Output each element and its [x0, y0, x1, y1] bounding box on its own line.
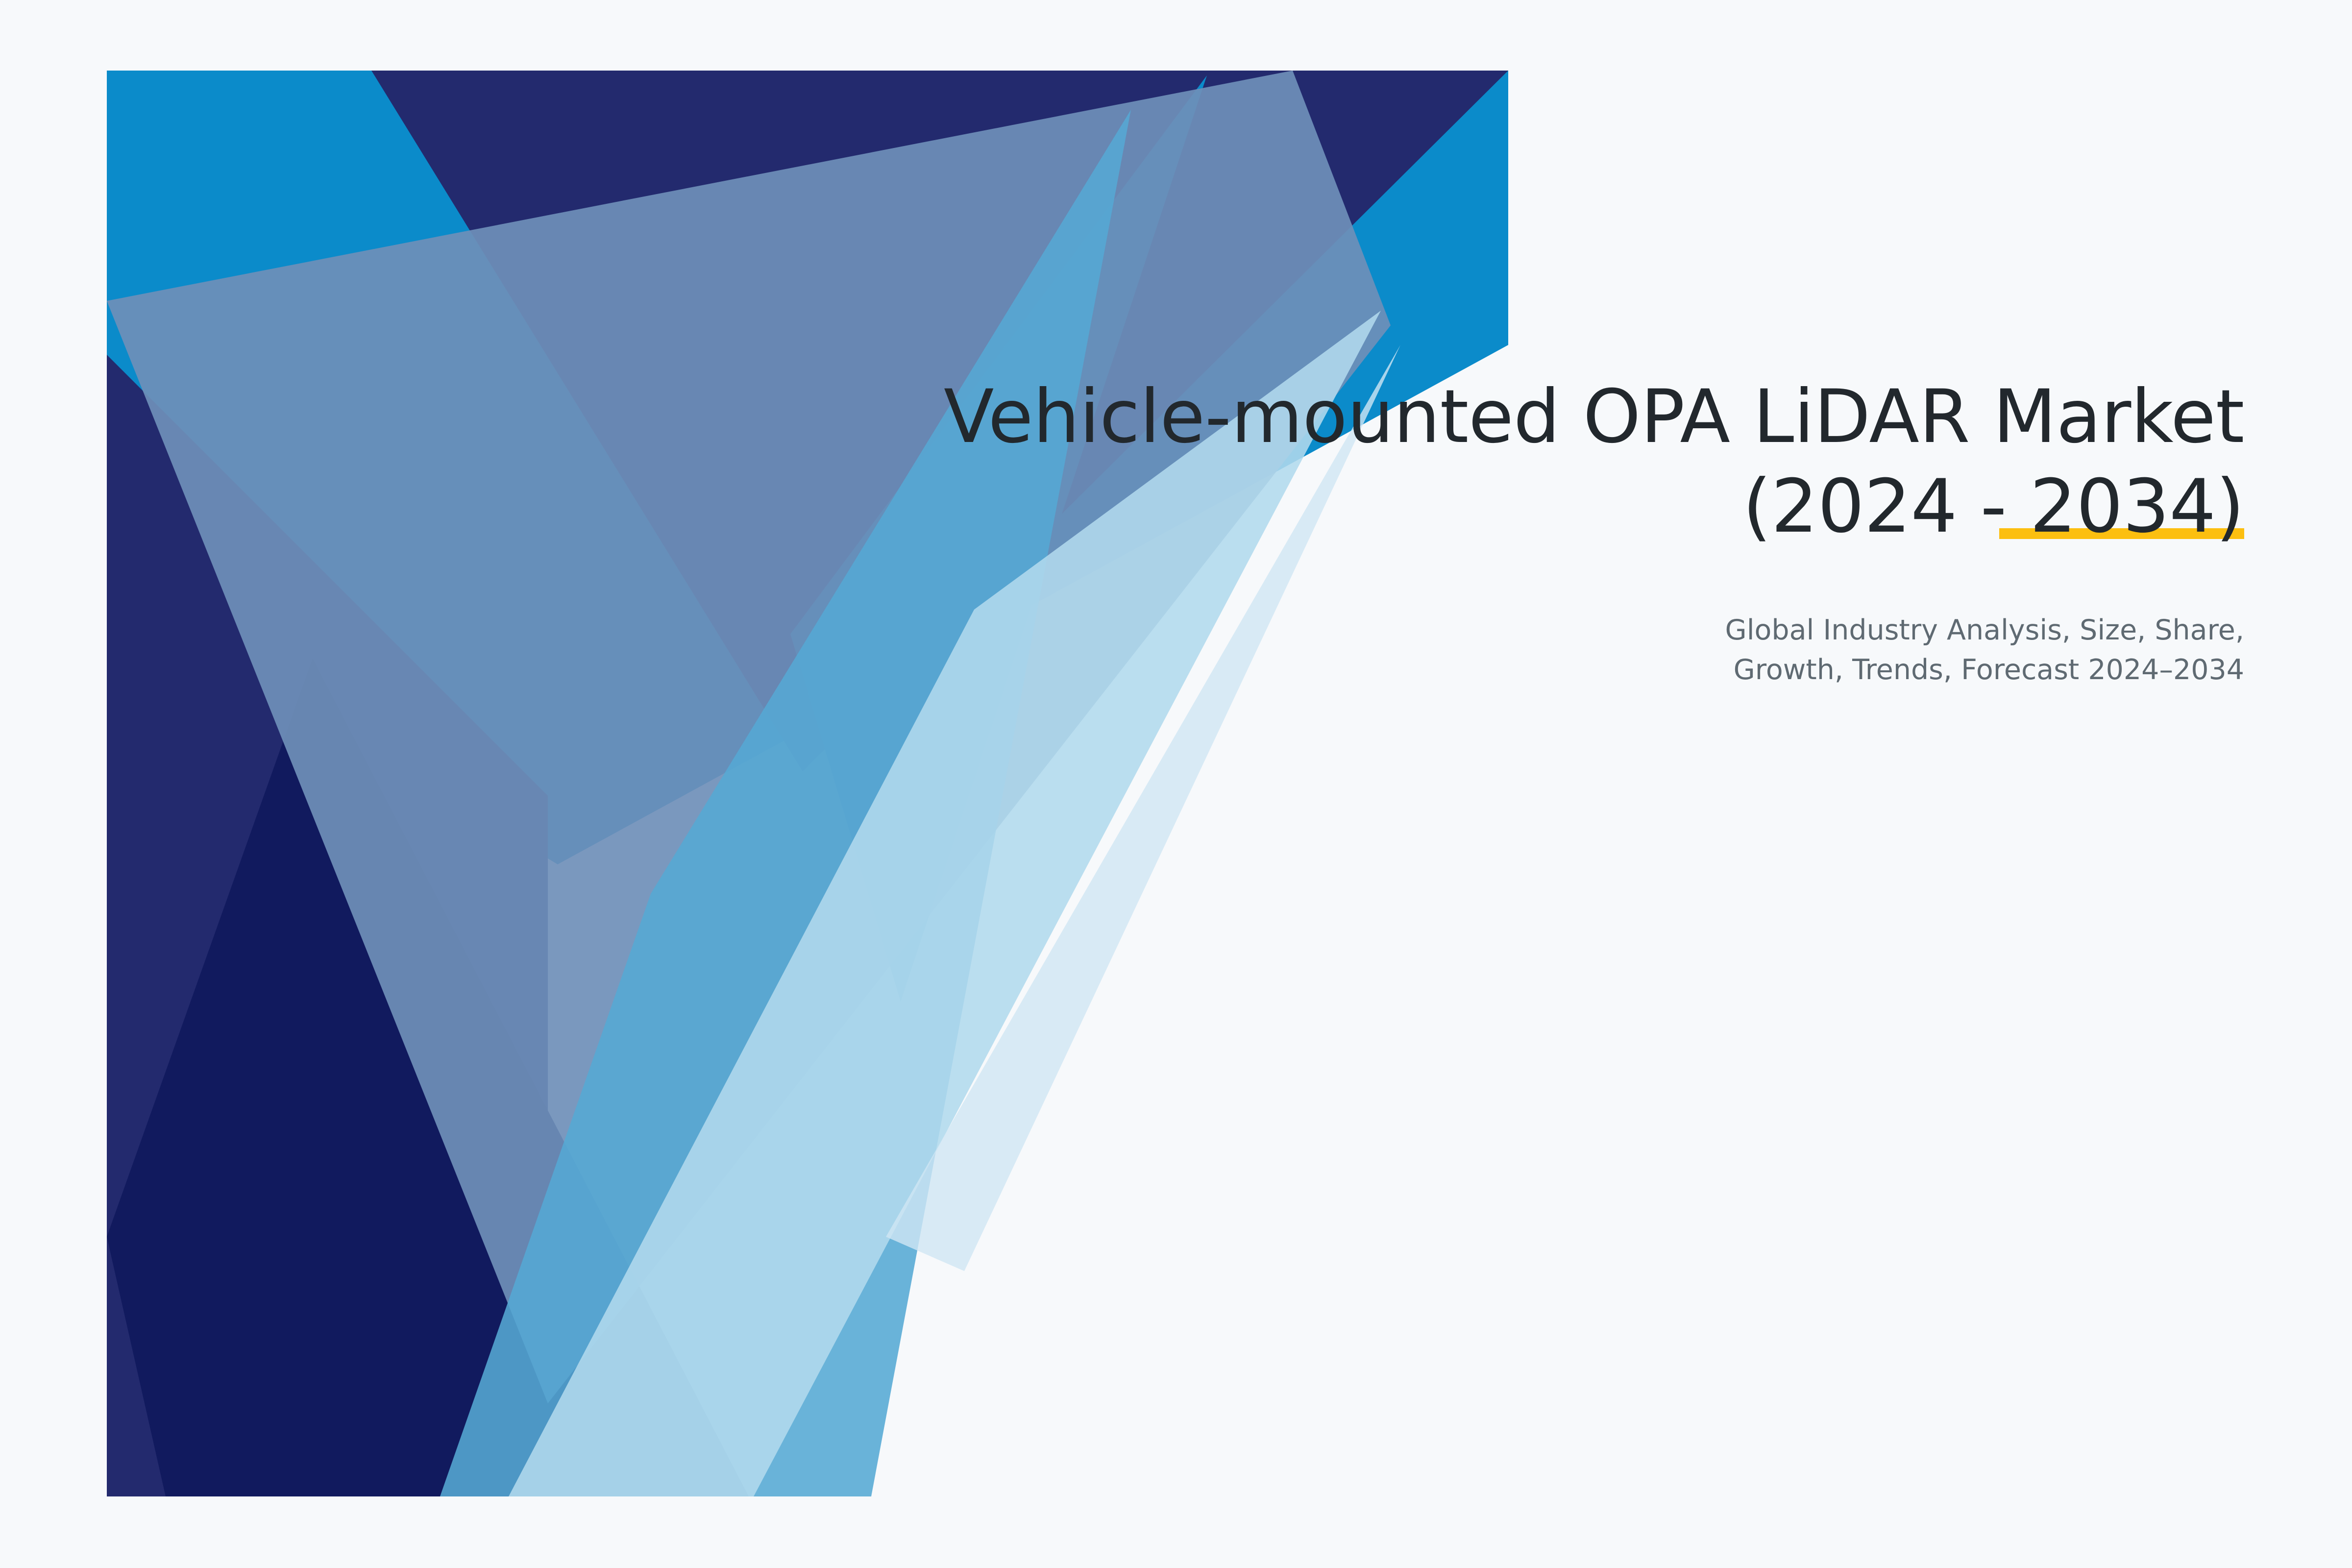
- page-subtitle: Global Industry Analysis, Size, Share, G…: [725, 611, 2244, 690]
- title-line-1: Vehicle-mounted OPA LiDAR Market: [725, 372, 2244, 462]
- cover-text-block: Vehicle-mounted OPA LiDAR Market (2024 -…: [725, 372, 2244, 690]
- abstract-geometric-graphic: [107, 71, 1508, 1496]
- artwork-shape-group: [107, 71, 1508, 1496]
- title-line-2: (2024 - 2034): [725, 462, 2244, 552]
- report-cover-page: Vehicle-mounted OPA LiDAR Market (2024 -…: [0, 0, 2352, 1568]
- page-title: Vehicle-mounted OPA LiDAR Market (2024 -…: [725, 372, 2244, 552]
- artwork-svg: [107, 71, 1508, 1496]
- subtitle-line-2: Growth, Trends, Forecast 2024–2034: [725, 650, 2244, 690]
- subtitle-line-1: Global Industry Analysis, Size, Share,: [725, 611, 2244, 650]
